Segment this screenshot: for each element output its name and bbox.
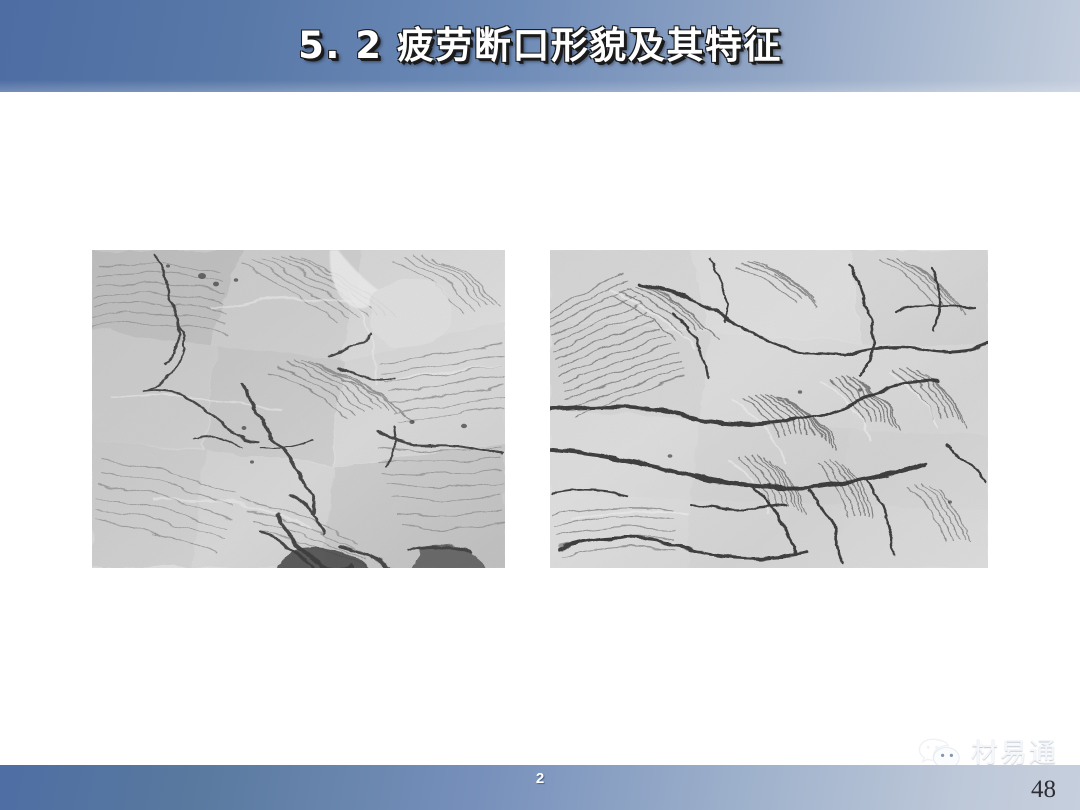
micrograph-image-left (92, 250, 505, 568)
footer-total-pages: 48 (1031, 776, 1056, 804)
slide: 5. 2 疲劳断口形貌及其特征 (0, 0, 1080, 810)
figure-fatigue-fracture-right (550, 250, 988, 568)
footer-page-number: 2 (0, 770, 1080, 787)
page-title: 5. 2 疲劳断口形貌及其特征 (0, 0, 1080, 92)
micrograph-image-right (550, 250, 988, 568)
slide-content (0, 92, 1080, 765)
figure-fatigue-fracture-left (92, 250, 505, 568)
